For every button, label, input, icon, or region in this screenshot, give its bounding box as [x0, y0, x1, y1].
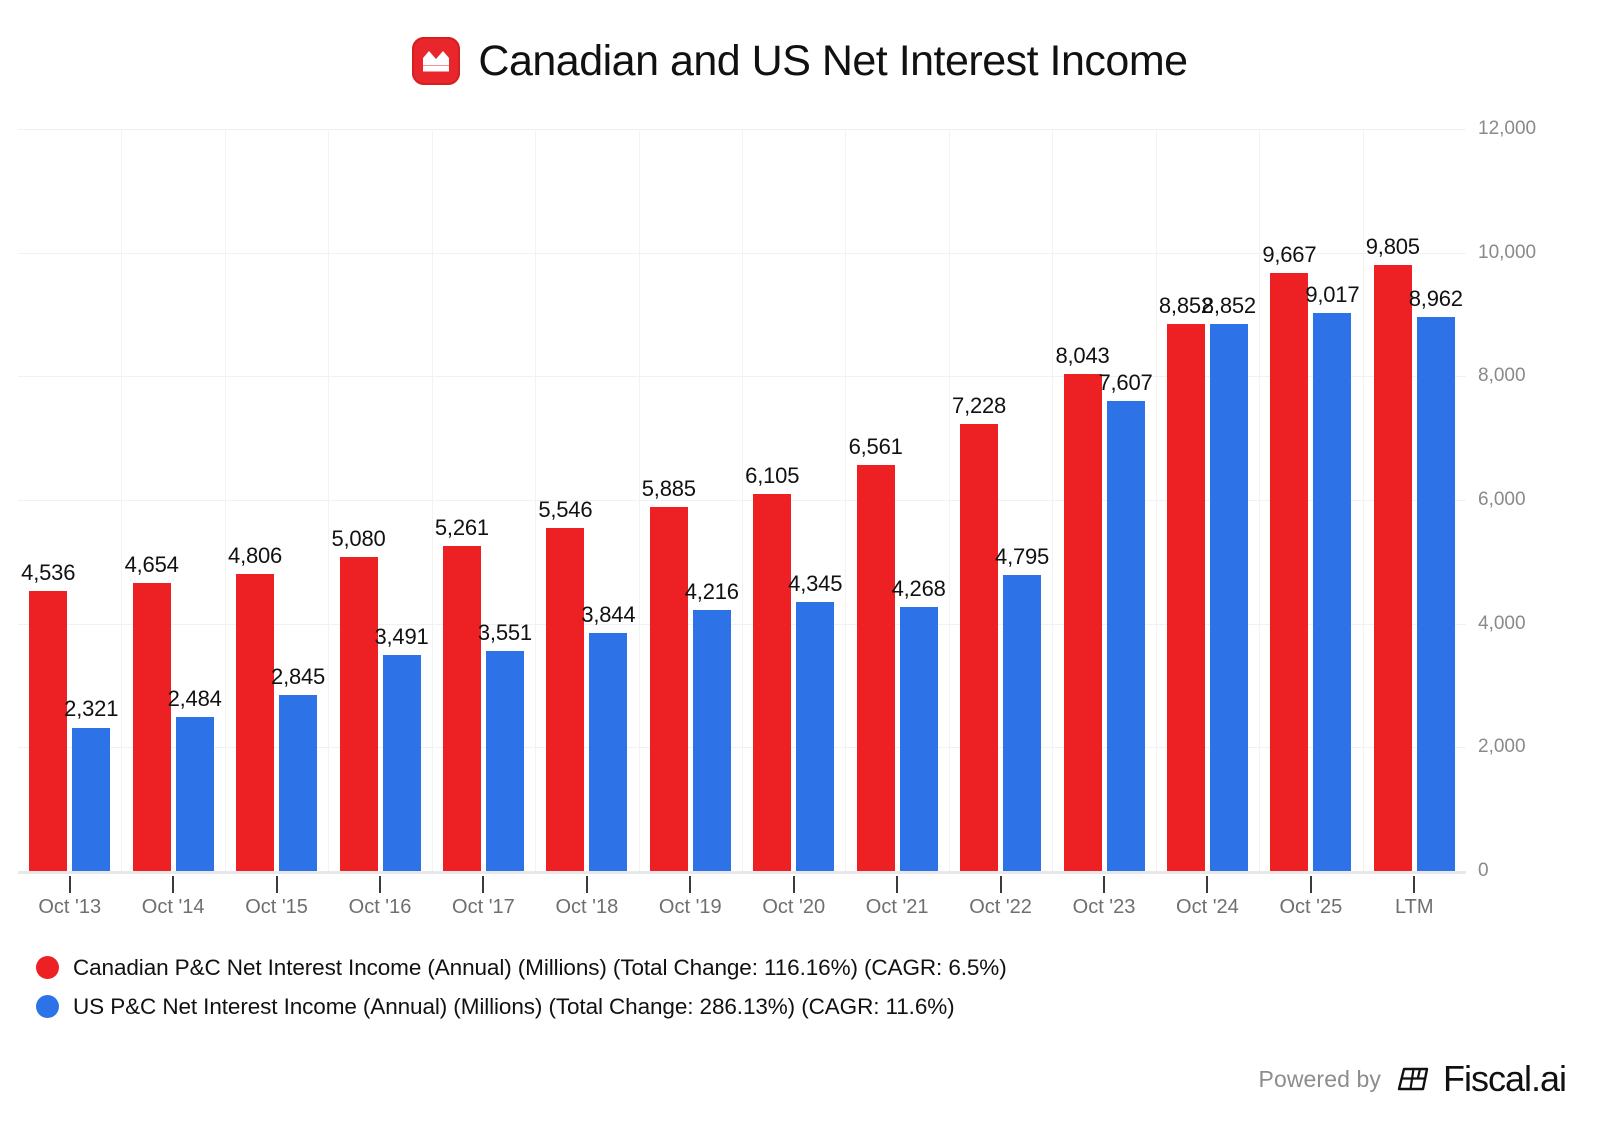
x-axis-tick-mark	[1103, 876, 1105, 893]
x-axis-tick-label: Oct '14	[142, 896, 205, 919]
x-axis-tick-mark	[1413, 876, 1415, 893]
x-axis-tick-mark	[69, 876, 71, 893]
x-axis-tick-mark	[896, 876, 898, 893]
x-axis-tick-mark	[172, 876, 174, 893]
red-circle-icon	[36, 956, 59, 979]
y-axis-tick-label: 10,000	[1478, 242, 1536, 264]
x-axis-tick-label: Oct '19	[659, 896, 722, 919]
x-axis-tick-label: Oct '17	[452, 896, 515, 919]
legend-label-canadian: Canadian P&C Net Interest Income (Annual…	[73, 955, 1007, 981]
x-axis-tick-mark	[276, 876, 278, 893]
y-axis-tick-label: 4,000	[1478, 613, 1526, 635]
powered-by-label: Powered by	[1259, 1066, 1381, 1093]
y-axis-tick-label: 8,000	[1478, 365, 1526, 387]
blue-circle-icon	[36, 995, 59, 1018]
x-axis-tick-mark	[1206, 876, 1208, 893]
x-axis-tick-mark	[793, 876, 795, 893]
legend-item-us[interactable]: US P&C Net Interest Income (Annual) (Mil…	[36, 987, 1336, 1026]
legend-item-canadian[interactable]: Canadian P&C Net Interest Income (Annual…	[36, 948, 1336, 987]
y-axis-tick-label: 12,000	[1478, 118, 1536, 140]
x-axis-tick-label: Oct '16	[349, 896, 412, 919]
y-axis-tick-label: 0	[1478, 860, 1489, 882]
x-axis-tick-label: Oct '13	[38, 896, 101, 919]
chart-legend: Canadian P&C Net Interest Income (Annual…	[36, 948, 1336, 1026]
fiscal-ai-grid-icon	[1395, 1064, 1429, 1094]
x-axis-tick-label: Oct '22	[969, 896, 1032, 919]
x-axis-tick-label: Oct '25	[1279, 896, 1342, 919]
y-axis-tick-label: 6,000	[1478, 489, 1526, 511]
x-axis-baseline	[18, 871, 1466, 874]
x-axis-tick-label: Oct '20	[762, 896, 825, 919]
x-axis-tick-label: Oct '24	[1176, 896, 1239, 919]
x-axis-tick-mark	[1310, 876, 1312, 893]
x-axis-tick-mark	[689, 876, 691, 893]
x-axis-tick-label: Oct '15	[245, 896, 308, 919]
x-axis-tick-label: LTM	[1395, 896, 1434, 919]
x-axis-tick-mark	[482, 876, 484, 893]
x-axis-tick-label: Oct '18	[555, 896, 618, 919]
x-axis-tick-label: Oct '21	[866, 896, 929, 919]
y-axis-tick-label: 2,000	[1478, 736, 1526, 758]
x-axis-tick-label: Oct '23	[1073, 896, 1136, 919]
fiscal-ai-wordmark: Fiscal.ai	[1443, 1058, 1566, 1100]
x-axis-tick-mark	[1000, 876, 1002, 893]
x-axis-tick-mark	[379, 876, 381, 893]
footer-attribution: Powered by Fiscal.ai	[1259, 1058, 1567, 1100]
x-axis-tick-mark	[586, 876, 588, 893]
legend-label-us: US P&C Net Interest Income (Annual) (Mil…	[73, 994, 955, 1020]
